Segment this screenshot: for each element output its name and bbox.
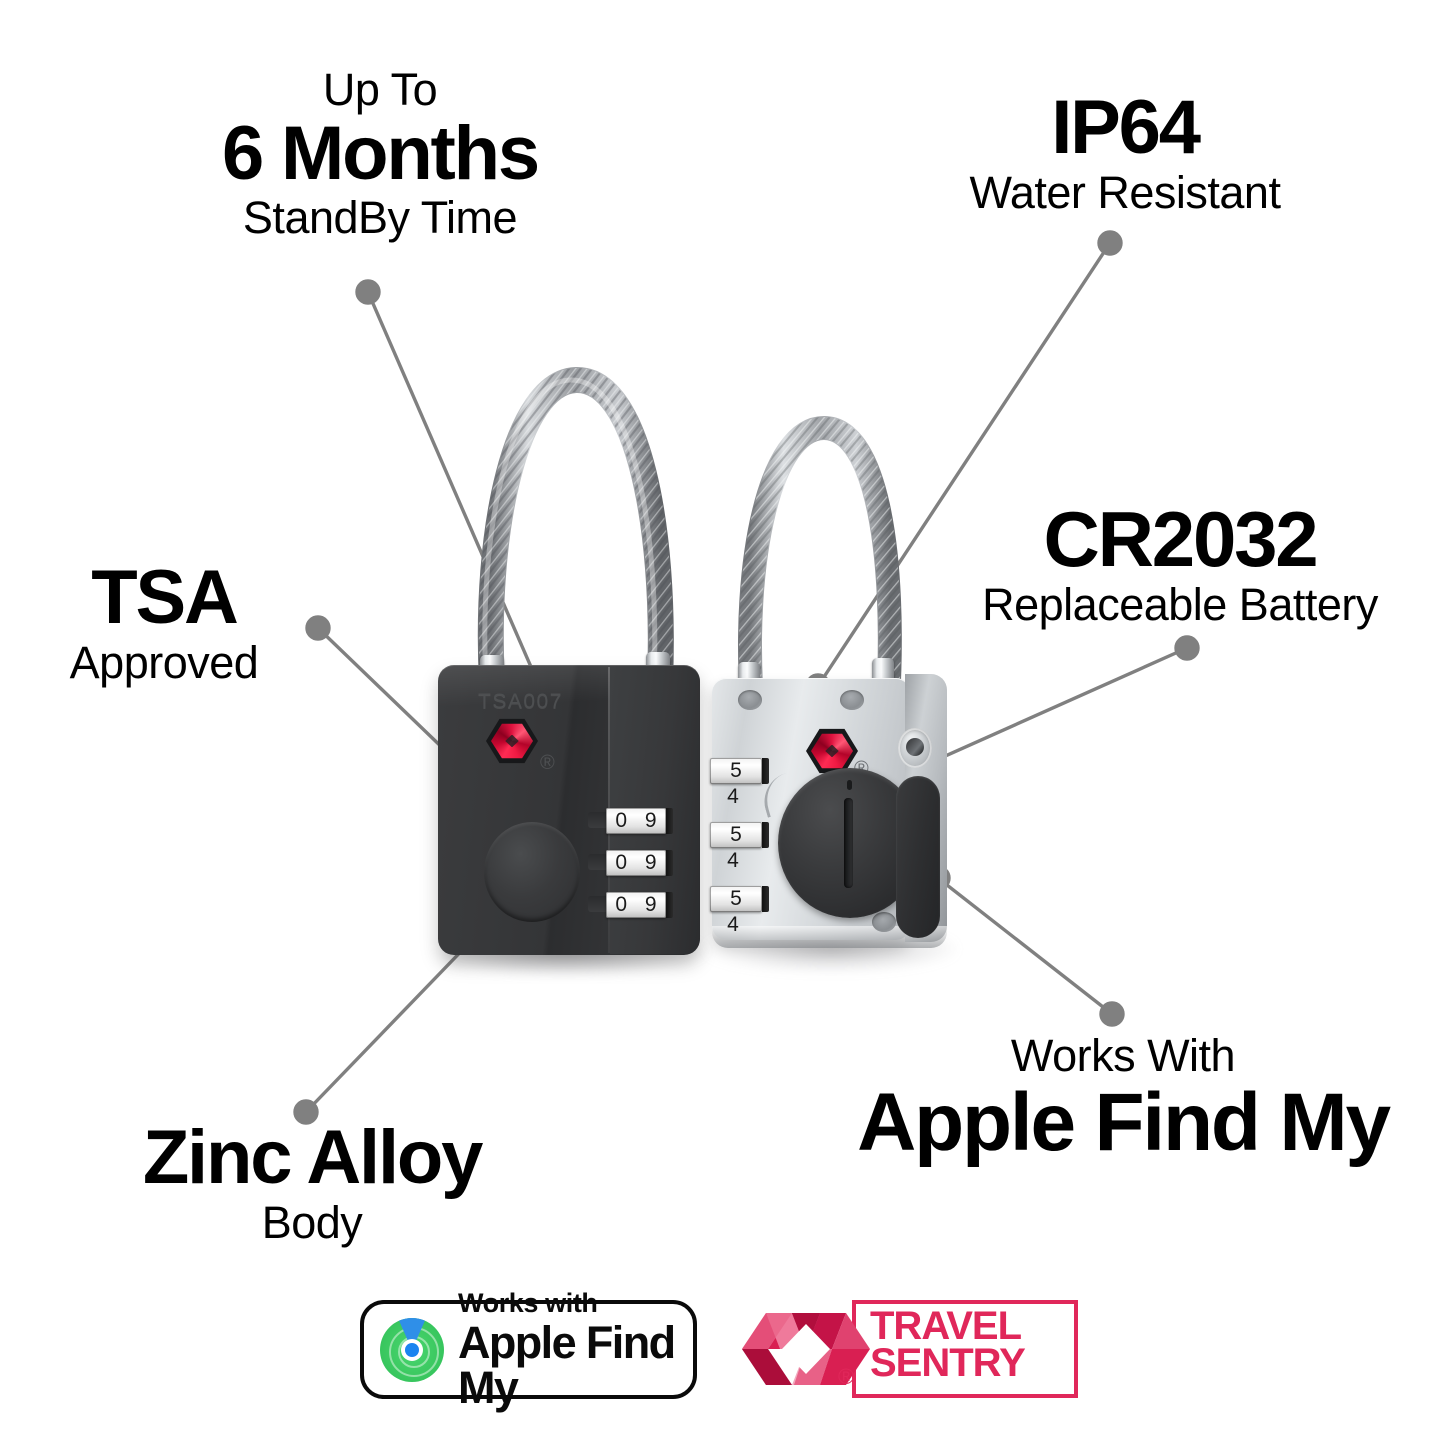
- callout-standby-time: Up To 6 Months StandBy Time: [120, 66, 640, 242]
- findmy-big-label: Apple Find My: [838, 1080, 1408, 1167]
- callout-replaceable-battery: CR2032 Replaceable Battery: [955, 498, 1405, 628]
- standby-big-label: 6 Months: [120, 114, 640, 195]
- silver-lock-rubber-strip: [896, 776, 940, 938]
- standby-sub-label: StandBy Time: [120, 194, 640, 242]
- silver-dial-1[interactable]: 5 4: [710, 758, 762, 784]
- works-with-apple-find-my-badge[interactable]: Works with Apple Find My: [360, 1300, 697, 1399]
- travel-sentry-line1: TRAVEL: [870, 1308, 1070, 1345]
- tsa007-engraving: TSA007: [478, 690, 563, 714]
- callout-works-with-apple-find-my: Works With Apple Find My: [838, 1032, 1408, 1167]
- findmy-badge-small-label: Works with: [458, 1290, 693, 1317]
- registered-mark-black: ®: [540, 752, 555, 775]
- travel-sentry-badge[interactable]: ® TRAVEL SENTRY: [742, 1298, 1080, 1402]
- silver-lock-hole-bottom: [872, 912, 896, 932]
- dial-3[interactable]: 0 9: [606, 892, 666, 918]
- water-sub-label: Water Resistant: [915, 169, 1335, 217]
- callout-tsa-approved: TSA Approved: [24, 558, 304, 686]
- findmy-small-label: Works With: [838, 1032, 1408, 1080]
- silver-dial-2[interactable]: 5 4: [710, 822, 762, 848]
- leader-line-findmy: [938, 878, 1112, 1014]
- battery-sub-label: Replaceable Battery: [955, 581, 1405, 629]
- battery-big-label: CR2032: [955, 498, 1405, 581]
- infographic-canvas: TSA007 ® 0 9 0 9 0 9: [0, 0, 1445, 1445]
- leader-dot-battery-label: [1176, 637, 1198, 659]
- callout-zinc-alloy-body: Zinc Alloy Body: [92, 1118, 532, 1246]
- zinc-big-label: Zinc Alloy: [92, 1118, 532, 1199]
- silver-dial-3[interactable]: 5 4: [710, 886, 762, 912]
- leader-dot-findmy-label: [1101, 1003, 1123, 1025]
- travel-sentry-line2: SENTRY: [870, 1345, 1070, 1382]
- leader-dot-standby-label: [357, 281, 379, 303]
- black-lock-button[interactable]: [484, 822, 580, 922]
- leader-dot-tsa-label: [307, 617, 329, 639]
- leader-dot-water-label: [1099, 232, 1121, 254]
- tsa-diamond-gem-icon-black: [486, 718, 538, 764]
- tsa-big-label: TSA: [24, 558, 304, 639]
- standby-small-label: Up To: [120, 66, 640, 114]
- dial-1[interactable]: 0 9: [606, 808, 666, 834]
- tsa-sub-label: Approved: [24, 639, 304, 687]
- silver-lock-hole-left: [738, 690, 762, 710]
- zinc-sub-label: Body: [92, 1199, 532, 1247]
- certification-badges-row: Works with Apple Find My: [0, 1296, 1445, 1416]
- travel-sentry-registered-mark: ®: [838, 1364, 854, 1390]
- callout-water-resistant: IP64 Water Resistant: [915, 88, 1335, 216]
- silver-lock-hole-right: [840, 690, 864, 710]
- silver-lock-keyhole[interactable]: [898, 728, 932, 768]
- find-my-radar-icon: [380, 1318, 444, 1382]
- silver-tsa-cable-padlock: ® 5 4 5 4 5 4: [700, 390, 958, 980]
- black-tsa-cable-padlock: TSA007 ® 0 9 0 9 0 9: [438, 360, 708, 980]
- black-lock-steel-cable: [456, 360, 694, 690]
- dial-2[interactable]: 0 9: [606, 850, 666, 876]
- water-big-label: IP64: [915, 88, 1335, 169]
- findmy-badge-big-label: Apple Find My: [458, 1320, 693, 1410]
